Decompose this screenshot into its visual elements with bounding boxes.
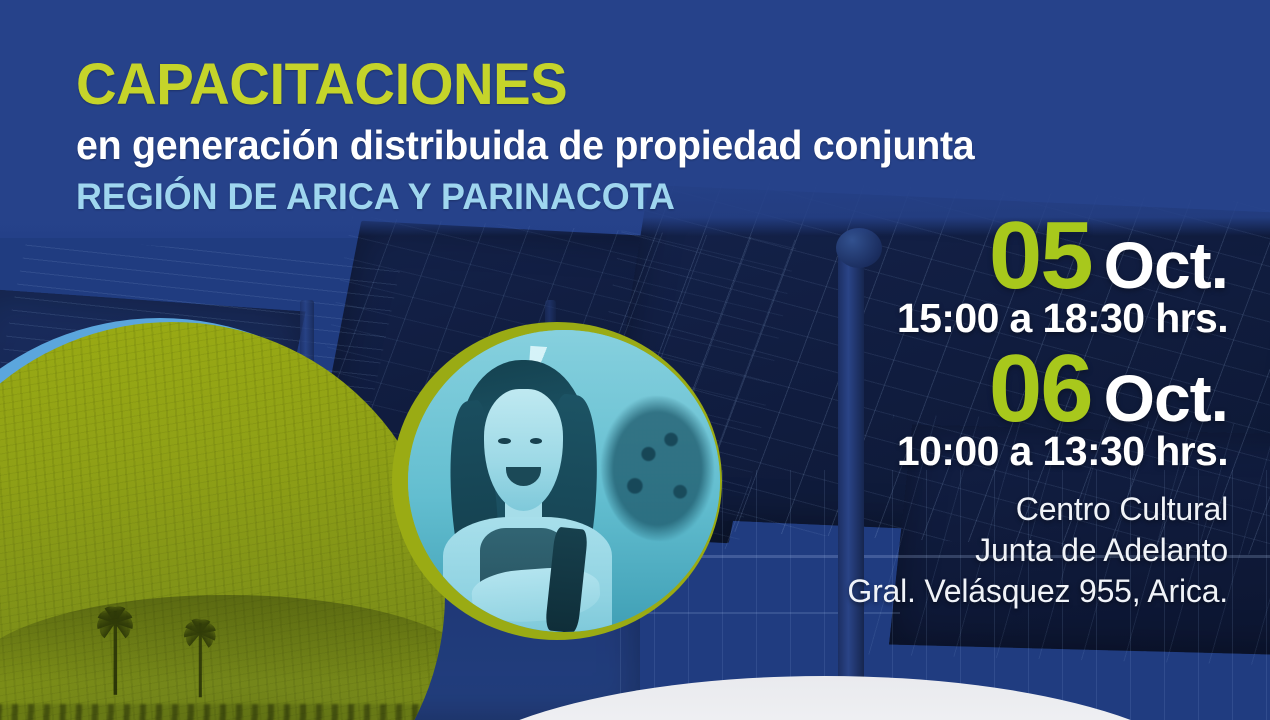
date-month: Oct.	[1104, 234, 1228, 297]
date-time: 15:00 a 18:30 hrs.	[808, 296, 1228, 340]
smile	[506, 467, 540, 486]
eye-left	[498, 438, 511, 444]
venue-line-2: Junta de Adelanto	[808, 530, 1228, 571]
date-time: 10:00 a 13:30 hrs.	[808, 429, 1228, 473]
venue-address: Centro Cultural Junta de Adelanto Gral. …	[808, 489, 1228, 612]
date-row: 06 Oct.	[808, 345, 1228, 433]
venue-line-3: Gral. Velásquez 955, Arica.	[808, 571, 1228, 612]
date-entry: 06 Oct. 10:00 a 13:30 hrs.	[808, 345, 1228, 474]
venue-line-1: Centro Cultural	[808, 489, 1228, 530]
date-entry: 05 Oct. 15:00 a 18:30 hrs.	[808, 212, 1228, 341]
headline-subtitle: en generación distribuida de propiedad c…	[76, 122, 974, 169]
landscape-texture	[0, 322, 445, 720]
headline-block: CAPACITACIONES en generación distribuida…	[76, 56, 1012, 218]
portrait-circle-image	[408, 330, 720, 632]
date-day: 06	[989, 345, 1092, 433]
page-title: CAPACITACIONES	[76, 56, 984, 114]
woman-portrait	[427, 354, 633, 632]
event-poster: CAPACITACIONES en generación distribuida…	[0, 0, 1270, 720]
date-row: 05 Oct.	[808, 212, 1228, 300]
date-day: 05	[989, 212, 1092, 300]
landscape-circle-image	[0, 322, 445, 720]
date-month: Oct.	[1104, 367, 1228, 430]
eye-right	[530, 438, 543, 444]
dates-block: 05 Oct. 15:00 a 18:30 hrs. 06 Oct. 10:00…	[808, 212, 1228, 612]
